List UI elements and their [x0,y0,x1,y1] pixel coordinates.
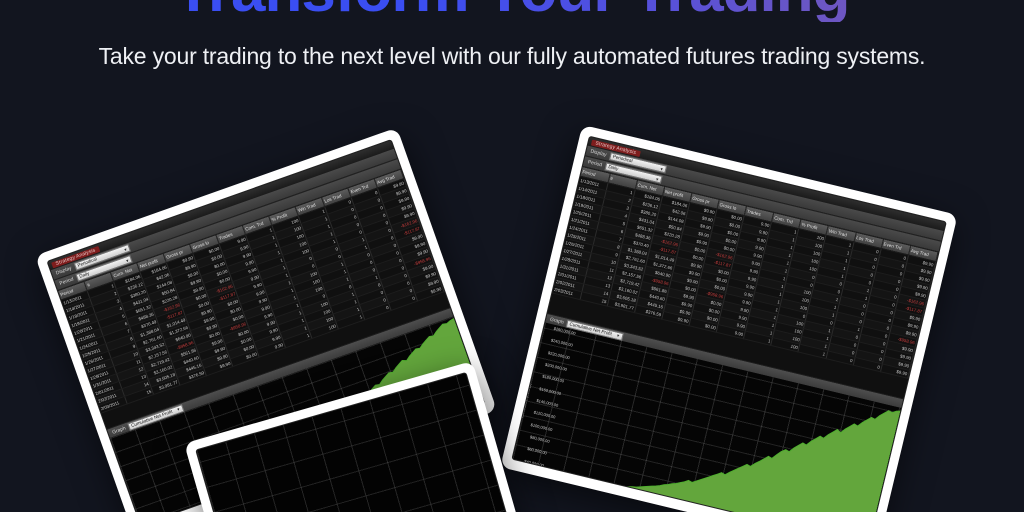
y-tick-label: $100,000.00 [521,420,553,431]
chevron-down-icon: ▼ [655,176,660,182]
y-tick-label: $180,000.00 [532,372,564,383]
y-tick-label: $140,000.00 [527,396,559,407]
chevron-down-icon: ▼ [123,246,128,252]
y-tick-label: $40,000.00 [512,456,544,467]
chevron-down-icon: ▼ [616,333,621,339]
y-tick-label: $160,000.00 [529,384,561,395]
y-tick-label: $220,000.00 [538,349,570,360]
y-tick-label: $20,000.00 [511,468,541,479]
y-tick-label: $120,000.00 [524,408,556,419]
y-tick-label: $200,000.00 [535,360,567,371]
page-subtitle: Take your trading to the next level with… [72,40,952,73]
y-tick-label: $80,000.00 [518,432,550,443]
right-period-label: Period [587,159,602,168]
right-display-label: Display [590,148,607,158]
y-tick-label: $60,000.00 [515,444,547,455]
y-tick-label: $240,000.00 [541,337,573,348]
laptop-right: Strategy Analysis Display Periodical ▼ P… [500,125,958,512]
chevron-down-icon: ▼ [124,257,129,263]
chevron-down-icon: ▼ [176,406,181,412]
laptop-right-screen: Strategy Analysis Display Periodical ▼ P… [511,136,947,512]
page-title: Transform Your Trading [0,0,1024,22]
chevron-down-icon: ▼ [659,166,664,172]
hero-section: Transform Your Trading Take your trading… [0,0,1024,73]
